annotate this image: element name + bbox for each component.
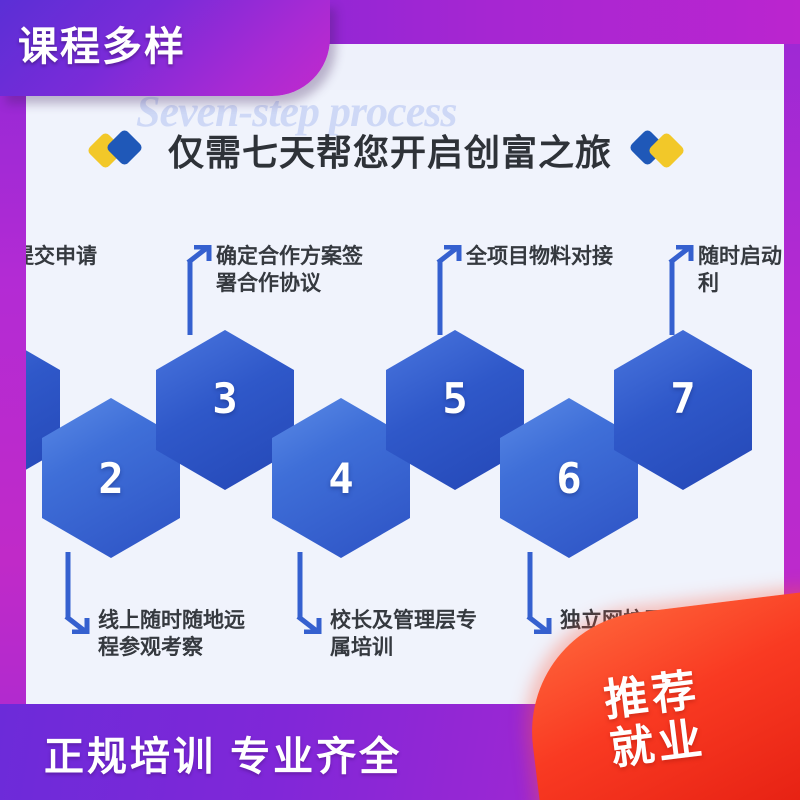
arrow-down-icon-step-2 <box>60 552 94 634</box>
subtitle-text: 仅需七天帮您开启创富之旅 <box>168 124 612 176</box>
hexagon-number-3: 3 <box>156 374 294 423</box>
diamond-pair-icon-left <box>92 130 146 170</box>
hexagon-number-4: 4 <box>272 454 410 503</box>
caption-step-3: 确定合作方案签 署合作协议 <box>216 244 406 298</box>
caption-step-2-line1: 线上随时随地远 <box>98 608 288 635</box>
caption-step-5-line1: 全项目物料对接 <box>466 244 666 271</box>
caption-step-2-line2: 程参观考察 <box>98 635 288 662</box>
hexagon-number-5: 5 <box>386 374 524 423</box>
arrow-down-icon-step-4 <box>292 552 326 634</box>
caption-step-3-line1: 确定合作方案签 <box>216 244 406 271</box>
arrow-up-icon-step-7 <box>664 245 698 335</box>
caption-step-3-line2: 署合作协议 <box>216 271 406 298</box>
diamond-pair-icon-right <box>634 130 688 170</box>
footer-text: 正规培训 专业齐全 <box>44 724 402 782</box>
arrow-up-icon-step-3 <box>182 245 216 335</box>
hexagon-number-2: 2 <box>42 454 180 503</box>
caption-step-4-line2: 属培训 <box>330 635 520 662</box>
arrow-down-icon-step-6 <box>522 552 556 634</box>
subtitle-row: 仅需七天帮您开启创富之旅 <box>60 120 720 180</box>
arrow-up-icon-step-5 <box>432 245 466 335</box>
poster-root: Seven-step process 课程多样 仅需七天帮您开启创富之旅 1 2… <box>0 0 800 800</box>
hexagon-number-6: 6 <box>500 454 638 503</box>
hexagon-number-7: 7 <box>614 374 752 423</box>
caption-step-4-line1: 校长及管理层专 <box>330 608 520 635</box>
caption-step-4: 校长及管理层专 属培训 <box>330 608 520 662</box>
caption-step-2: 线上随时随地远 程参观考察 <box>98 608 288 662</box>
caption-step-5: 全项目物料对接 <box>466 244 666 271</box>
left-edge-strip <box>0 0 26 800</box>
page-title: 课程多样 <box>18 14 318 72</box>
